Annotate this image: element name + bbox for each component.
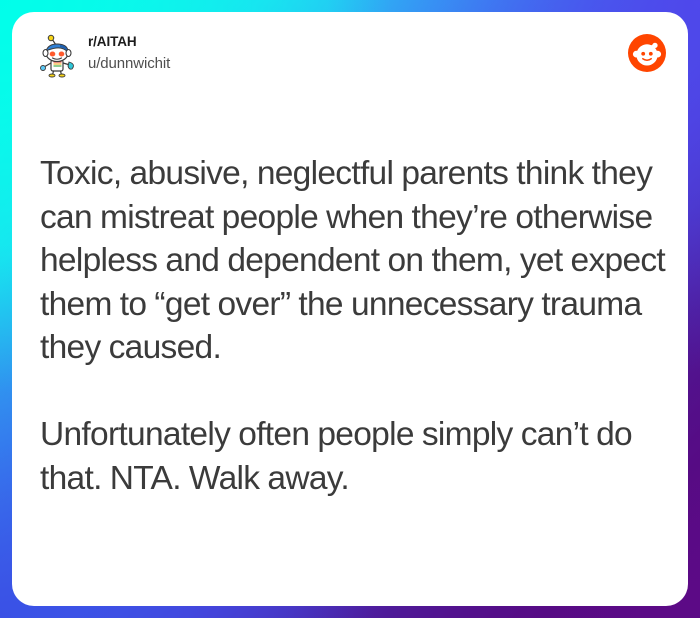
post-author-block: r/AITAH u/dunnwichit: [88, 33, 170, 75]
screenshot-canvas: r/AITAH u/dunnwichit Toxi: [0, 0, 700, 618]
post-paragraph: Unfortunately often people simply can’t …: [40, 413, 666, 500]
reddit-post-card: r/AITAH u/dunnwichit Toxi: [12, 12, 688, 606]
post-body: Toxic, abusive, neglectful parents think…: [40, 152, 666, 500]
snoo-avatar-icon[interactable]: [32, 30, 82, 80]
subreddit-name[interactable]: r/AITAH: [88, 33, 170, 51]
reddit-logo-icon[interactable]: [628, 34, 666, 72]
post-paragraph: Toxic, abusive, neglectful parents think…: [40, 152, 666, 370]
post-header: r/AITAH u/dunnwichit: [12, 12, 688, 90]
username[interactable]: u/dunnwichit: [88, 53, 170, 75]
